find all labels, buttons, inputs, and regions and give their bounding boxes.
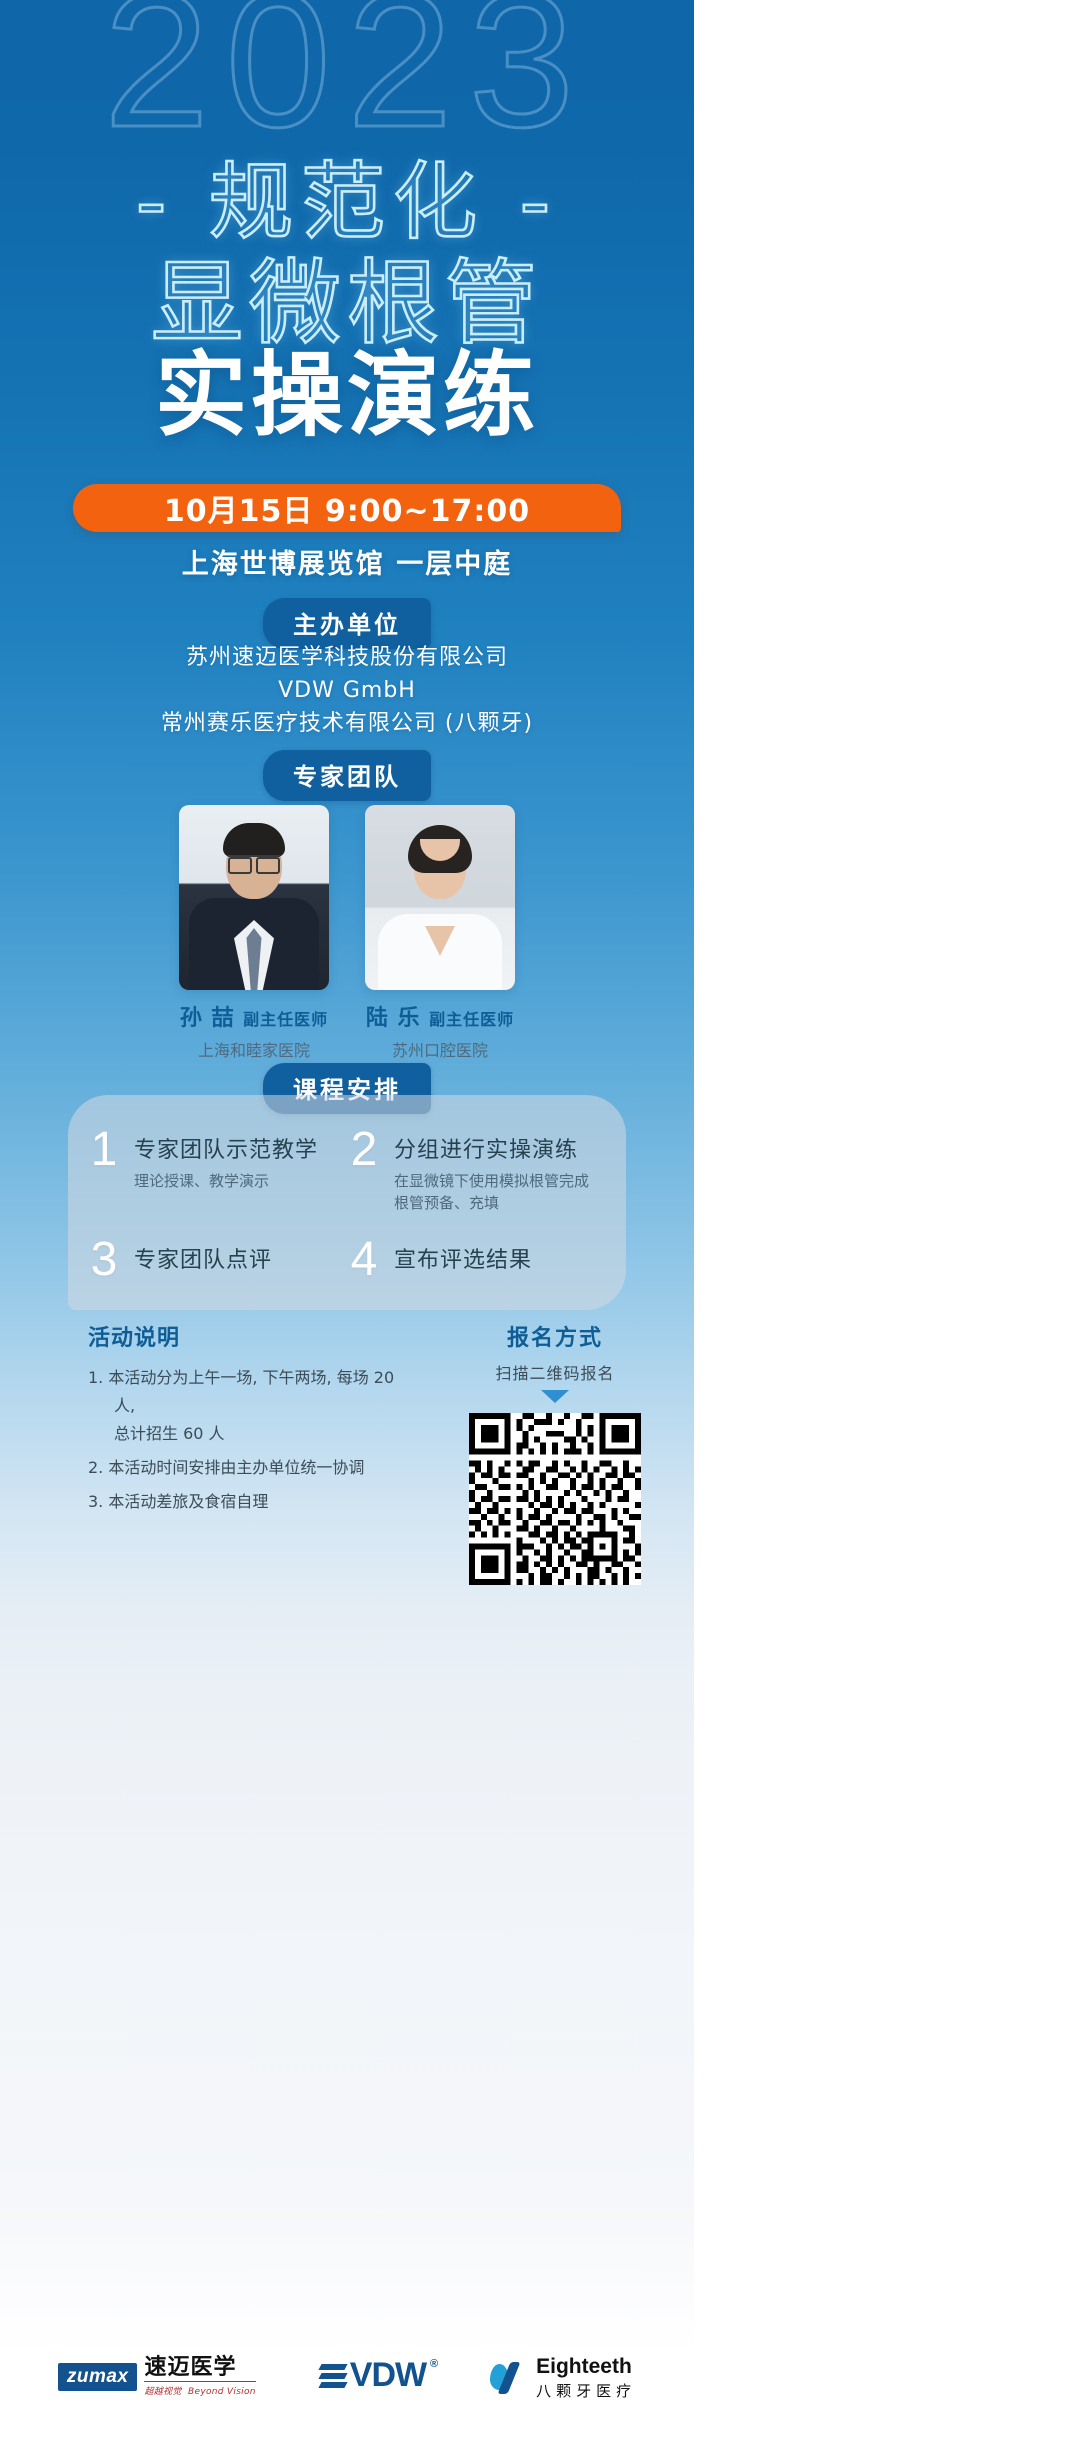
notes-section: 活动说明 1. 本活动分为上午一场, 下午两场, 每场 20 人, 总计招生 6… — [88, 1320, 418, 1522]
schedule-item-desc: 在显微镜下使用模拟根管完成 根管预备、充填 — [394, 1170, 589, 1214]
date-time-bar: 10月15日 9:00~17:00 — [73, 484, 621, 532]
schedule-item: 1 专家团队示范教学 理论授课、教学演示 — [88, 1128, 348, 1214]
eighteeth-mark-icon — [490, 2362, 530, 2396]
title-line-1: - 规范化 - — [0, 160, 694, 244]
expert-list: 孙 喆 副主任医师 上海和睦家医院 陆 乐 副主任医师 苏州口腔医院 — [0, 805, 694, 1061]
expert-name: 陆 乐 副主任医师 — [365, 1000, 515, 1032]
sponsor-logo-bar: zumax 速迈医学 超越视觉 Beyond Vision VDW® Eight… — [0, 2350, 694, 2448]
schedule-item: 3 专家团队点评 — [88, 1238, 348, 1281]
qr-code-icon[interactable] — [469, 1413, 641, 1585]
host-org-item: VDW GmbH — [0, 674, 694, 707]
schedule-item: 2 分组进行实操演练 在显微镜下使用模拟根管完成 根管预备、充填 — [348, 1128, 608, 1214]
schedule-item-title: 宣布评选结果 — [394, 1242, 532, 1274]
schedule-item-number: 2 — [348, 1128, 380, 1171]
schedule-item-number: 1 — [88, 1128, 120, 1171]
section-badge-experts: 专家团队 — [263, 750, 431, 801]
eighteeth-name-cn: 八颗牙医疗 — [536, 2380, 636, 2401]
logo-vdw: VDW® — [320, 2356, 426, 2395]
expert-photo-female-doctor — [365, 805, 515, 990]
host-org-item: 常州赛乐医疗技术有限公司 (八颗牙) — [0, 707, 694, 740]
zumax-tagline: 超越视觉 Beyond Vision — [144, 2381, 255, 2397]
zumax-name-cn: 速迈医学 — [144, 2356, 255, 2379]
expert-name-text: 孙 喆 — [180, 1006, 235, 1031]
eighteeth-name-en: Eighteeth — [536, 2355, 632, 2378]
arrow-down-icon — [541, 1390, 569, 1403]
notes-list: 1. 本活动分为上午一场, 下午两场, 每场 20 人, 总计招生 60 人 2… — [88, 1364, 418, 1516]
schedule-item-number: 3 — [88, 1238, 120, 1281]
schedule-grid: 1 专家团队示范教学 理论授课、教学演示 2 分组进行实操演练 在显微镜下使用模… — [88, 1128, 608, 1281]
notes-heading: 活动说明 — [88, 1320, 418, 1352]
expert-hospital: 苏州口腔医院 — [365, 1037, 515, 1061]
registration-heading: 报名方式 — [430, 1320, 680, 1352]
schedule-item-title: 专家团队示范教学 — [134, 1132, 318, 1164]
logo-eighteeth: Eighteeth 八颗牙医疗 — [490, 2356, 636, 2401]
poster-root: 2023 - 规范化 - 显微根管 实操演练 10月15日 9:00~17:00… — [0, 0, 694, 2448]
expert-title-text: 副主任医师 — [429, 1010, 514, 1029]
host-organization-list: 苏州速迈医学科技股份有限公司 VDW GmbH 常州赛乐医疗技术有限公司 (八颗… — [0, 641, 694, 740]
registration-section: 报名方式 扫描二维码报名 — [430, 1320, 680, 1585]
schedule-item-desc: 理论授课、教学演示 — [134, 1170, 318, 1192]
title-main: 实操演练 — [0, 350, 694, 442]
notes-item: 1. 本活动分为上午一场, 下午两场, 每场 20 人, 总计招生 60 人 — [88, 1364, 418, 1448]
expert-name-text: 陆 乐 — [366, 1006, 421, 1031]
zumax-wordmark: zumax — [58, 2363, 138, 2391]
logo-zumax: zumax 速迈医学 超越视觉 Beyond Vision — [58, 2356, 256, 2397]
expert-name: 孙 喆 副主任医师 — [179, 1000, 329, 1032]
date-time-text: 10月15日 9:00~17:00 — [164, 486, 530, 530]
schedule-item-title: 分组进行实操演练 — [394, 1132, 589, 1164]
expert-hospital: 上海和睦家医院 — [179, 1037, 329, 1061]
notes-item: 3. 本活动差旅及食宿自理 — [88, 1488, 418, 1516]
registration-subtitle: 扫描二维码报名 — [430, 1360, 680, 1384]
vdw-wordmark: VDW® — [350, 2356, 426, 2395]
title-line-2: 显微根管 — [0, 258, 694, 350]
expert-photo-male-doctor — [179, 805, 329, 990]
venue-text: 上海世博展览馆 一层中庭 — [0, 542, 694, 581]
expert-card: 陆 乐 副主任医师 苏州口腔医院 — [365, 805, 515, 1061]
schedule-item: 4 宣布评选结果 — [348, 1238, 608, 1281]
expert-title-text: 副主任医师 — [243, 1010, 328, 1029]
host-org-item: 苏州速迈医学科技股份有限公司 — [0, 641, 694, 674]
expert-card: 孙 喆 副主任医师 上海和睦家医院 — [179, 805, 329, 1061]
vdw-mark-icon — [320, 2364, 346, 2388]
notes-item: 2. 本活动时间安排由主办单位统一协调 — [88, 1454, 418, 1482]
schedule-item-number: 4 — [348, 1238, 380, 1281]
schedule-item-title: 专家团队点评 — [134, 1242, 272, 1274]
qr-code-wrapper[interactable] — [430, 1413, 680, 1585]
year-watermark: 2023 — [0, 0, 694, 156]
